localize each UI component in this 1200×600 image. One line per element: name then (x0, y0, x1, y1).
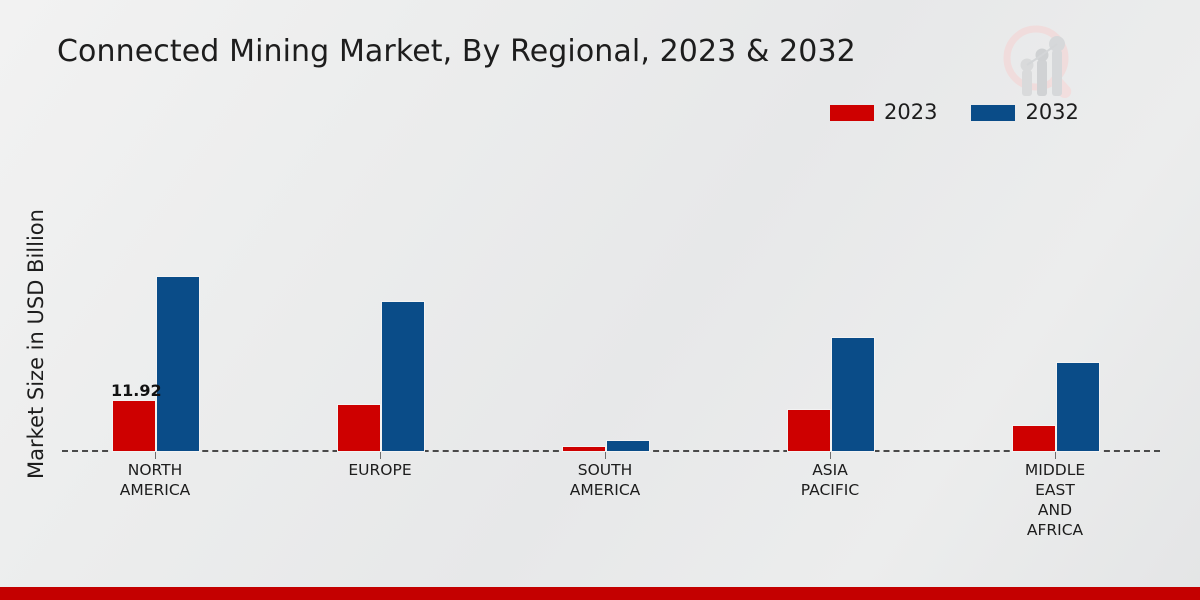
axis-tick-asia-pacific (830, 452, 831, 459)
axis-tick-europe (380, 452, 381, 459)
category-label-line2: PACIFIC (720, 480, 940, 500)
category-label-europe: EUROPE (270, 460, 490, 480)
category-label-line4: AFRICA (945, 520, 1165, 540)
category-label-line3: AND (945, 500, 1165, 520)
bar-middle-east-and-africa-2032[interactable] (1056, 362, 1100, 452)
bar-group-asia-pacific: ASIA PACIFIC (787, 140, 925, 452)
category-label-south-america: SOUTH AMERICA (495, 460, 715, 500)
category-label-line2: EAST (945, 480, 1165, 500)
category-label-line1: SOUTH (495, 460, 715, 480)
bar-south-america-2023[interactable] (562, 446, 606, 452)
category-label-asia-pacific: ASIA PACIFIC (720, 460, 940, 500)
bar-south-america-2032[interactable] (606, 440, 650, 452)
bar-north-america-2023[interactable] (112, 400, 156, 452)
legend-swatch-2023 (830, 105, 874, 121)
bar-group-north-america: 11.92 NORTH AMERICA (112, 140, 250, 452)
category-label-line2: AMERICA (45, 480, 265, 500)
category-label-north-america: NORTH AMERICA (45, 460, 265, 500)
category-label-line2: AMERICA (495, 480, 715, 500)
legend-label-2032: 2032 (1025, 102, 1078, 123)
category-label-line1: EUROPE (270, 460, 490, 480)
axis-tick-middle-east-and-africa (1055, 452, 1056, 459)
legend-label-2023: 2023 (884, 102, 937, 123)
chart-page: Connected Mining Market, By Regional, 20… (0, 0, 1200, 600)
category-label-line1: ASIA (720, 460, 940, 480)
bar-group-middle-east-and-africa: MIDDLE EAST AND AFRICA (1012, 140, 1150, 452)
category-label-line1: NORTH (45, 460, 265, 480)
axis-tick-south-america (605, 452, 606, 459)
legend-item-2032[interactable]: 2032 (971, 102, 1078, 123)
bar-north-america-2032[interactable] (156, 276, 200, 452)
bar-group-europe: EUROPE (337, 140, 475, 452)
bottom-accent-strip (0, 587, 1200, 600)
category-label-middle-east-and-africa: MIDDLE EAST AND AFRICA (945, 460, 1165, 540)
bar-group-south-america: SOUTH AMERICA (562, 140, 700, 452)
page-title: Connected Mining Market, By Regional, 20… (57, 34, 856, 69)
category-label-line1: MIDDLE (945, 460, 1165, 480)
bar-middle-east-and-africa-2023[interactable] (1012, 425, 1056, 452)
bar-asia-pacific-2032[interactable] (831, 337, 875, 452)
axis-tick-north-america (155, 452, 156, 459)
bar-europe-2023[interactable] (337, 404, 381, 452)
bar-europe-2032[interactable] (381, 301, 425, 452)
bar-value-north-america-2023: 11.92 (111, 381, 162, 400)
legend-item-2023[interactable]: 2023 (830, 102, 937, 123)
plot-area: 11.92 NORTH AMERICA EUROPE SOUTH AMERICA (62, 140, 1160, 452)
legend-swatch-2032 (971, 105, 1015, 121)
bar-asia-pacific-2023[interactable] (787, 409, 831, 452)
chart-legend: 2023 2032 (830, 102, 1079, 123)
